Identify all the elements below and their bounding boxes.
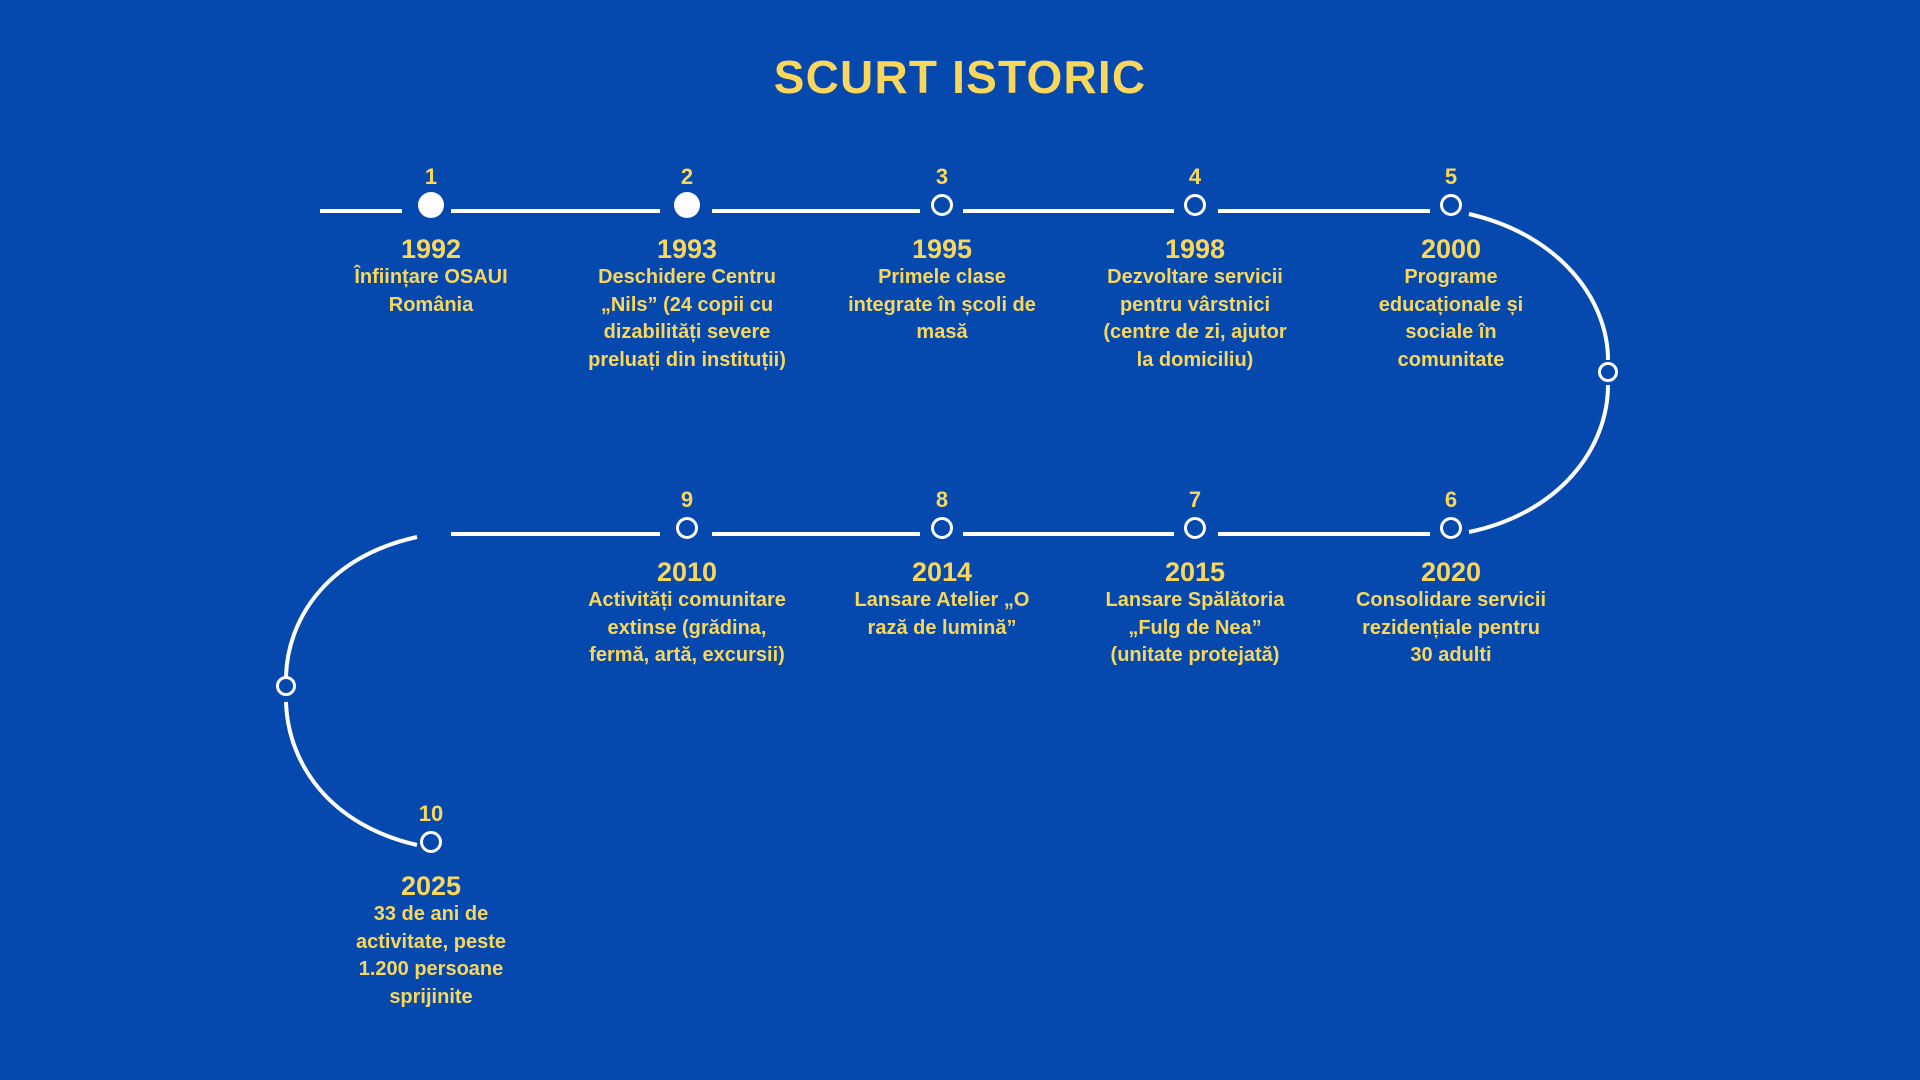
ring-dot-icon xyxy=(1440,517,1462,539)
timeline-item-number: 8 xyxy=(838,489,1046,513)
timeline-item-7[interactable]: 7 2015 Lansare Spălătoria „Fulg de Nea” … xyxy=(1091,489,1299,670)
timeline-item-description: Înființare OSAUI România xyxy=(327,264,535,319)
timeline-item-9[interactable]: 9 2010 Activități comunitare extinse (gr… xyxy=(583,489,791,670)
timeline-item-number: 7 xyxy=(1091,489,1299,513)
curve-marker-right xyxy=(1598,362,1618,382)
ring-dot-icon xyxy=(931,517,953,539)
timeline-item-year: 1992 xyxy=(327,234,535,264)
ring-dot-icon xyxy=(676,517,698,539)
timeline-item-number: 3 xyxy=(838,166,1046,190)
timeline-item-1[interactable]: 1 1992 Înființare OSAUI România xyxy=(327,166,535,319)
filled-dot-icon xyxy=(674,192,700,218)
timeline-item-description: Deschidere Centru „Nils” (24 copii cu di… xyxy=(583,264,791,374)
timeline-item-number: 2 xyxy=(583,166,791,190)
timeline-item-description: Lansare Spălătoria „Fulg de Nea” (unitat… xyxy=(1091,587,1299,670)
timeline-node-marker xyxy=(1347,513,1555,543)
timeline-node-marker xyxy=(583,513,791,543)
timeline-item-year: 1998 xyxy=(1091,234,1299,264)
timeline-node-marker xyxy=(583,190,791,220)
timeline-item-year: 2014 xyxy=(838,557,1046,587)
curve-marker-left xyxy=(276,676,296,696)
timeline-item-description: 33 de ani de activitate, peste 1.200 per… xyxy=(327,901,535,1011)
timeline-node-marker xyxy=(1091,513,1299,543)
timeline-item-number: 5 xyxy=(1347,166,1555,190)
timeline-item-description: Consolidare servicii rezidențiale pentru… xyxy=(1347,587,1555,670)
timeline-node-marker xyxy=(1347,190,1555,220)
timeline-item-year: 2015 xyxy=(1091,557,1299,587)
timeline-item-year: 2025 xyxy=(327,871,535,901)
timeline-item-description: Dezvoltare servicii pentru vârstnici (ce… xyxy=(1091,264,1299,374)
timeline-item-10[interactable]: 10 2025 33 de ani de activitate, peste 1… xyxy=(327,803,535,1012)
timeline-item-year: 2000 xyxy=(1347,234,1555,264)
timeline-item-number: 9 xyxy=(583,489,791,513)
timeline-item-year: 2010 xyxy=(583,557,791,587)
ring-dot-icon xyxy=(1184,517,1206,539)
timeline-node-marker xyxy=(838,190,1046,220)
timeline-item-number: 6 xyxy=(1347,489,1555,513)
timeline-item-3[interactable]: 3 1995 Primele clase integrate în școli … xyxy=(838,166,1046,347)
timeline-item-description: Lansare Atelier „O rază de lumină” xyxy=(838,587,1046,642)
timeline-item-year: 1995 xyxy=(838,234,1046,264)
timeline-node-marker xyxy=(838,513,1046,543)
filled-dot-icon xyxy=(418,192,444,218)
timeline-item-description: Primele clase integrate în școli de masă xyxy=(838,264,1046,347)
timeline-item-number: 1 xyxy=(327,166,535,190)
timeline-item-2[interactable]: 2 1993 Deschidere Centru „Nils” (24 copi… xyxy=(583,166,791,375)
timeline-item-8[interactable]: 8 2014 Lansare Atelier „O rază de lumină… xyxy=(838,489,1046,642)
timeline-item-6[interactable]: 6 2020 Consolidare servicii rezidențiale… xyxy=(1347,489,1555,670)
timeline-node-marker xyxy=(327,827,535,857)
timeline-item-number: 4 xyxy=(1091,166,1299,190)
ring-dot-icon xyxy=(1184,194,1206,216)
timeline-item-description: Activități comunitare extinse (grădina, … xyxy=(583,587,791,670)
ring-dot-icon xyxy=(931,194,953,216)
timeline-item-year: 2020 xyxy=(1347,557,1555,587)
infographic-canvas: SCURT ISTORIC 1 xyxy=(0,0,1920,1080)
timeline-node-marker xyxy=(1091,190,1299,220)
timeline-node-marker xyxy=(327,190,535,220)
timeline-item-4[interactable]: 4 1998 Dezvoltare servicii pentru vârstn… xyxy=(1091,166,1299,375)
ring-dot-icon xyxy=(420,831,442,853)
ring-dot-icon xyxy=(1440,194,1462,216)
timeline-item-5[interactable]: 5 2000 Programe educaționale și sociale … xyxy=(1347,166,1555,375)
timeline-item-description: Programe educaționale și sociale în comu… xyxy=(1347,264,1555,374)
page-title: SCURT ISTORIC xyxy=(0,50,1920,104)
timeline-item-year: 1993 xyxy=(583,234,791,264)
timeline-item-number: 10 xyxy=(327,803,535,827)
